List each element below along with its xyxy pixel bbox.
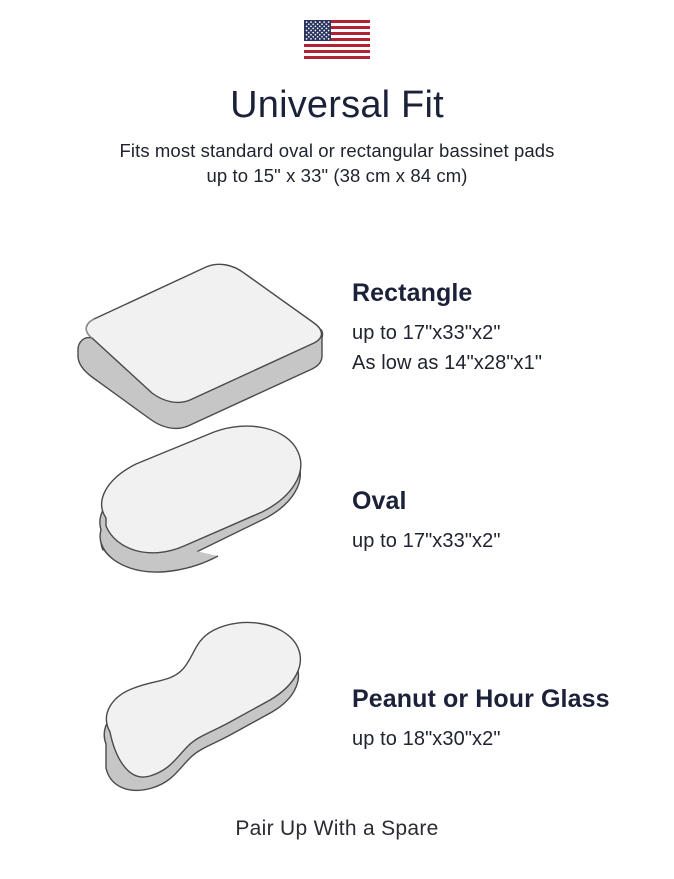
rectangle-art (0, 238, 340, 418)
page-title: Universal Fit (0, 82, 674, 128)
shape-row-rectangle: Rectangle up to 17"x33"x2" As low as 14"… (0, 238, 674, 418)
shape-spec-rectangle-primary: up to 17"x33"x2" (352, 318, 674, 348)
shape-row-peanut: Peanut or Hour Glass up to 18"x30"x2" (0, 628, 674, 810)
oval-art (0, 438, 340, 603)
shape-name-oval: Oval (352, 486, 674, 516)
footer-tagline: Pair Up With a Spare (0, 815, 674, 843)
shape-name-peanut: Peanut or Hour Glass (352, 684, 674, 714)
oval-mattress-icon (0, 438, 340, 603)
rectangle-mattress-icon (0, 238, 340, 418)
shape-name-rectangle: Rectangle (352, 278, 674, 308)
subtitle-line-1: Fits most standard oval or rectangular b… (0, 138, 674, 163)
oval-info: Oval up to 17"x33"x2" (340, 486, 674, 556)
us-flag-icon (304, 20, 370, 59)
peanut-info: Peanut or Hour Glass up to 18"x30"x2" (340, 684, 674, 754)
universal-fit-infographic: Universal Fit Fits most standard oval or… (0, 0, 674, 879)
subtitle-line-2: up to 15" x 33" (38 cm x 84 cm) (0, 163, 674, 188)
shape-row-oval: Oval up to 17"x33"x2" (0, 438, 674, 603)
peanut-mattress-icon (0, 628, 340, 810)
shape-spec-oval-primary: up to 17"x33"x2" (352, 526, 674, 556)
shape-spec-peanut-primary: up to 18"x30"x2" (352, 724, 674, 754)
header: Universal Fit Fits most standard oval or… (0, 82, 674, 188)
rectangle-info: Rectangle up to 17"x33"x2" As low as 14"… (340, 278, 674, 378)
peanut-art (0, 628, 340, 810)
flag-container (0, 20, 674, 59)
shape-spec-rectangle-secondary: As low as 14"x28"x1" (352, 348, 674, 378)
page-subtitle: Fits most standard oval or rectangular b… (0, 138, 674, 188)
